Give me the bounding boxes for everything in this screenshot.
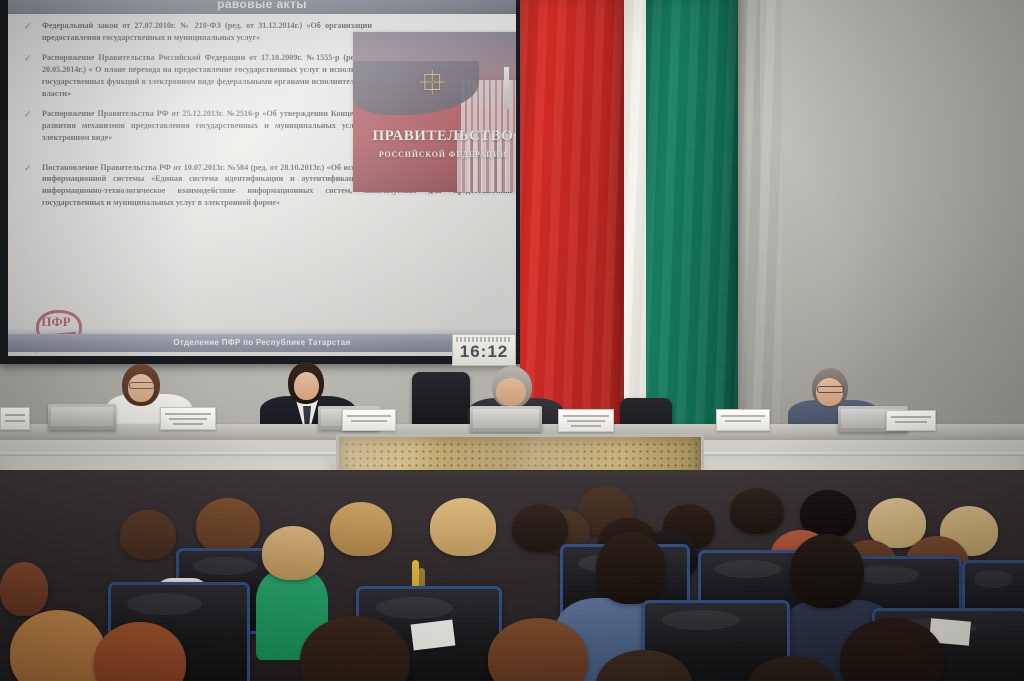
member-2-face	[294, 372, 319, 400]
conference-hall-photo: равовые акты ✓ Федеральный закон от 27.0…	[0, 0, 1024, 681]
slide-bullet-2-text: Распоряжение Правительства Российской Фе…	[42, 53, 372, 97]
chair-highlight	[974, 570, 1014, 588]
nameplate-line	[571, 425, 601, 427]
audience-head	[10, 610, 106, 681]
member-4-glasses-icon	[817, 386, 844, 393]
projection-screen: равовые акты ✓ Федеральный закон от 27.0…	[8, 0, 516, 356]
gov-image-line1: ПРАВИТЕЛЬСТВО	[357, 128, 516, 145]
audience-head	[330, 502, 392, 556]
nameplate-line	[5, 414, 25, 416]
gov-image-line2: РОССИЙСКОЙ ФЕДЕРАЦИИ	[357, 150, 516, 159]
nameplate-line	[351, 420, 387, 422]
nameplate-line	[721, 415, 765, 417]
audience-paper-sheet	[411, 620, 456, 651]
audience-head	[512, 504, 568, 552]
check-icon: ✓	[24, 108, 32, 121]
nameplate-line	[567, 420, 605, 422]
nameplate-line	[173, 423, 203, 425]
chair-highlight	[376, 597, 453, 619]
gov-image-mast	[504, 67, 509, 109]
nameplate-3	[558, 409, 614, 432]
audience-head	[596, 532, 666, 604]
audience-area	[0, 470, 1024, 681]
laptop-3	[470, 406, 542, 432]
presidium-empty-chair-1	[412, 372, 470, 430]
audience-head	[262, 526, 324, 580]
chair-highlight	[662, 610, 740, 630]
digital-clock: 16:12	[452, 334, 516, 366]
chair-highlight	[193, 557, 257, 575]
nameplate-line	[891, 416, 931, 418]
nameplate-line	[165, 413, 211, 415]
audience-head	[0, 562, 48, 616]
double-headed-eagle-icon: ⯐	[419, 67, 445, 101]
flag-edge-shadow	[738, 0, 748, 440]
projection-screen-frame: равовые акты ✓ Федеральный закон от 27.0…	[0, 0, 524, 364]
nameplate-line	[169, 418, 207, 420]
slide-footer-text: Отделение ПФР по Республике Татарстан	[8, 334, 516, 352]
check-icon: ✓	[24, 52, 32, 65]
clock-time: 16:12	[453, 342, 515, 362]
nameplate-line	[725, 420, 761, 422]
audience-head	[120, 510, 176, 560]
slide-bullet-3: ✓ Распоряжение Правительства РФ от 25.12…	[20, 108, 372, 143]
audience-head	[430, 498, 496, 556]
nameplate-line	[563, 415, 609, 417]
chair-highlight	[127, 593, 202, 615]
slide-bullet-1-text: Федеральный закон от 27.07.2010г. № 210-…	[42, 21, 372, 42]
slide-title: равовые акты	[8, 0, 516, 11]
nameplate-line	[895, 421, 927, 423]
laptop-1	[48, 404, 116, 430]
nameplate-line	[347, 415, 391, 417]
audience-head	[196, 498, 260, 554]
check-icon: ✓	[24, 20, 32, 33]
nameplate-5	[886, 410, 936, 431]
nameplate-1	[160, 407, 216, 430]
member-3-face	[496, 378, 526, 406]
audience-head	[790, 534, 864, 608]
slide-bullet-2: ✓ Распоряжение Правительства Российской …	[20, 52, 372, 99]
slide-footer: Отделение ПФР по Республике Татарстан	[8, 334, 516, 352]
nameplate-4	[716, 409, 770, 431]
nameplate-2	[342, 409, 396, 431]
government-image: ⯐ ПРАВИТЕЛЬСТВО РОССИЙСКОЙ ФЕДЕРАЦИИ	[353, 32, 516, 192]
nameplate-line	[5, 420, 25, 422]
chair-highlight	[715, 560, 781, 578]
slide-bullet-1: ✓ Федеральный закон от 27.07.2010г. № 21…	[20, 20, 372, 43]
check-icon: ✓	[24, 162, 32, 175]
member-1-glasses-icon	[129, 382, 155, 389]
slide-bullet-3-text: Распоряжение Правительства РФ от 25.12.2…	[42, 109, 372, 141]
audience-head	[730, 488, 784, 534]
nameplate-0	[0, 407, 30, 430]
